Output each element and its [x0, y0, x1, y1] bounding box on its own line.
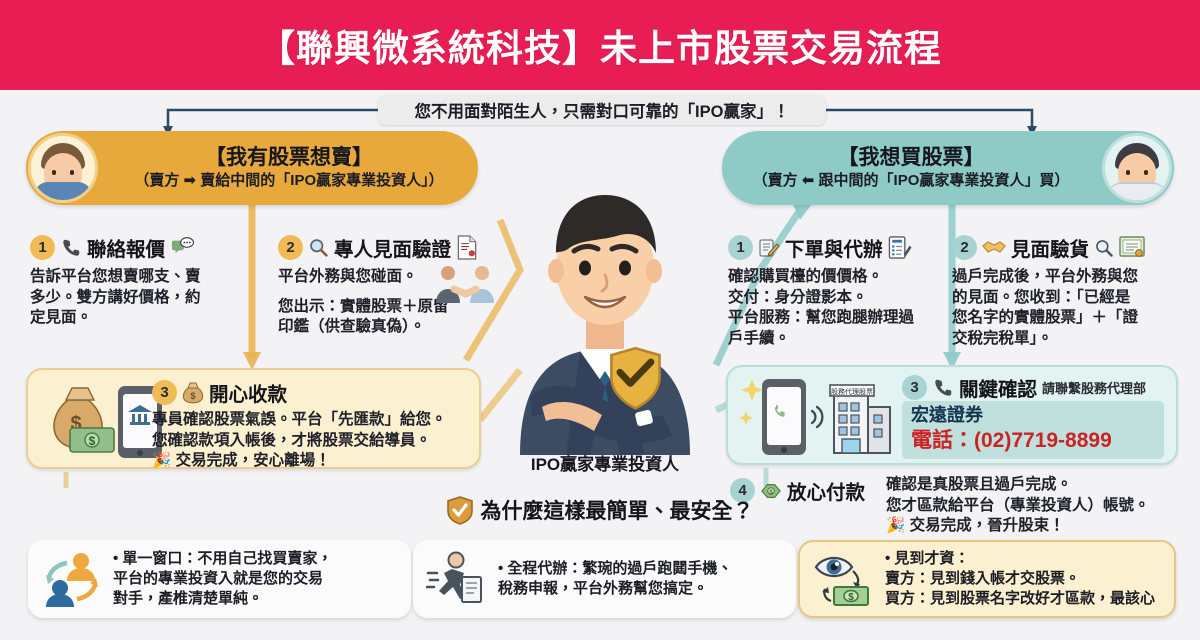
svg-text:$: $: [89, 434, 96, 448]
why-section: 為什麼這樣最簡單、最安全？: [0, 495, 1200, 525]
diagram-canvas: 您不用面對陌生人，只需對口可靠的「IPO贏家」！ 【我有股票想賣】 （賣方 ➡ …: [0, 90, 1200, 640]
buy-step-2: 2 見面驗貨 過戶完成後，平台外務與您 的見面。您收到：「已經是 您名字的實體股…: [952, 233, 1184, 349]
infographic-root: 【聯興微系統科技】未上市股票交易流程: [0, 0, 1200, 640]
buy-step-2-body: 過戶完成後，平台外務與您 的見面。您收到：「已經是 您名字的實體股票」＋「證 交…: [952, 267, 1184, 349]
mobile-signal-icon: 股務代理股票: [738, 373, 898, 461]
running-person-doc-icon: [426, 550, 488, 608]
shield-check-icon: [447, 496, 473, 525]
benefit-card-2-text: • 全程代辦：繁琬的過戶跑閮手機、 稅務申報，平台外務幫您搞定。: [498, 559, 732, 599]
sell-step-1-body: 告訴平台您想賣哪支、賣 多少。雙方講好價格，約 定見面。: [30, 267, 265, 329]
sell-step-1-title: 聯絡報價: [87, 233, 165, 262]
sell-result-number: 3: [152, 380, 177, 405]
sell-step-2-title: 專人見面驗證: [334, 233, 451, 262]
certificate-icon: [1119, 236, 1145, 259]
two-people-swap-icon: [41, 550, 103, 608]
buy-header-subtitle: （賣方 ⬅ 跟中間的「IPO贏家專業投資人」買）: [753, 172, 1070, 190]
sell-step-1: 1 聯絡報價 告訴平台您想賣哪支、賣 多少。雙方講好價格，約 定見面。: [30, 233, 265, 329]
svg-text:股務代理股票: 股務代理股票: [831, 387, 873, 396]
top-ribbon-banner: 您不用面對陌生人，只需對口可靠的「IPO贏家」！: [378, 95, 826, 125]
broker-contact-box: 宏遠證券 電話：(02)7719-8899: [902, 401, 1164, 459]
buy-header-title: 【我想買股票】: [838, 146, 985, 170]
sell-side-header: 【我有股票想賣】 （賣方 ➡ 賣給中間的「IPO贏家專業投資人」）: [26, 131, 478, 205]
buy-step-1-body: 確認購買檯的價價格。 交付：身分證影本。 平台服務：幫您跑腿辦理過 戶手續。: [728, 267, 940, 349]
buy-step-1-title: 下單與代辦: [785, 233, 883, 262]
buy-result-number: 3: [902, 375, 927, 400]
handshake-icon: [982, 238, 1006, 258]
businessman-shield-icon: [486, 135, 724, 455]
benefit-card-1: • 單一窗口：不用自己找買賣家， 平台的專業投資入就是您的交易 對手，產椎清楚單…: [28, 540, 411, 618]
hero-caption: IPO贏家專業投資人: [470, 450, 740, 475]
buy-step-2-number: 2: [952, 235, 977, 260]
speech-bubble-icon: [170, 237, 194, 259]
title-bar: 【聯興微系統科技】未上市股票交易流程: [0, 0, 1200, 90]
sell-result-body: 專員確認股票氣誤。平台「先匯款」給您。 您確認款項入帳後，才將股票交給導員。 🎉…: [152, 410, 447, 472]
phone-icon: [60, 237, 82, 259]
sell-header-title: 【我有股票想賣】: [205, 146, 373, 170]
ribbon-text: 您不用面對陌生人，只需對口可靠的「IPO贏家」！: [415, 98, 790, 122]
buy-step-1-number: 1: [728, 235, 753, 260]
sell-result-title: 開心收款: [209, 378, 287, 407]
clipboard-pen-icon: [888, 235, 912, 260]
buy-step-2-title: 見面驗貨: [1011, 233, 1089, 262]
broker-phone[interactable]: 電話：(02)7719-8899: [911, 427, 1155, 454]
sell-step-2-number: 2: [278, 235, 303, 260]
page-title: 【聯興微系統科技】未上市股票交易流程: [258, 18, 942, 72]
benefit-card-3: $ • 見到才資： 賣方：見到錢入帳才交股票。 買方：見到股票名字改好才區款，最…: [798, 540, 1176, 618]
seller-avatar: [28, 133, 98, 203]
money-bag-small-icon: $: [182, 382, 204, 404]
buy-step-1: 1 下單與代辦 確認購買檯的價價格。 交付：身分證影本。 平台服務：幫您跑腿辦理…: [728, 233, 940, 349]
phone-icon: [932, 377, 954, 399]
buy-result-note: 請聯繫股務代理部: [1042, 378, 1146, 397]
svg-text:$: $: [848, 592, 854, 603]
why-text: 為什麼這樣最簡單、最安全？: [481, 495, 754, 525]
buy-side-header: 【我想買股票】 （賣方 ⬅ 跟中間的「IPO贏家專業投資人」買）: [722, 131, 1174, 205]
benefit-card-1-text: • 單一窗口：不用自己找買賣家， 平台的專業投資入就是您的交易 對手，產椎清楚單…: [113, 549, 332, 608]
buy-result-panel: 股務代理股票 3 關鍵確認 請聯繫股: [726, 365, 1178, 465]
benefit-card-3-text: • 見到才資： 賣方：見到錢入帳才交股票。 買方：見到股票名字改好才區款，最該心: [885, 549, 1155, 608]
memo-pencil-icon: [758, 237, 780, 259]
broker-name: 宏遠證券: [911, 404, 1155, 427]
magnifier-icon: [308, 237, 329, 258]
sell-step-1-number: 1: [30, 235, 55, 260]
eye-money-icon: $: [813, 550, 875, 608]
sell-header-subtitle: （賣方 ➡ 賣給中間的「IPO贏家專業投資人」）: [134, 172, 443, 190]
buy-result-title: 關鍵確認: [959, 373, 1037, 402]
buyer-avatar: [1102, 133, 1172, 203]
certificate-icon: [456, 235, 478, 260]
sell-result-panel: $ $ 3 $ 開心收款: [26, 368, 481, 469]
magnifier-icon: [1094, 238, 1114, 258]
benefit-card-2: • 全程代辦：繁琬的過戶跑閮手機、 稅務申報，平台外務幫您搞定。: [413, 540, 796, 618]
svg-text:$: $: [190, 391, 195, 401]
